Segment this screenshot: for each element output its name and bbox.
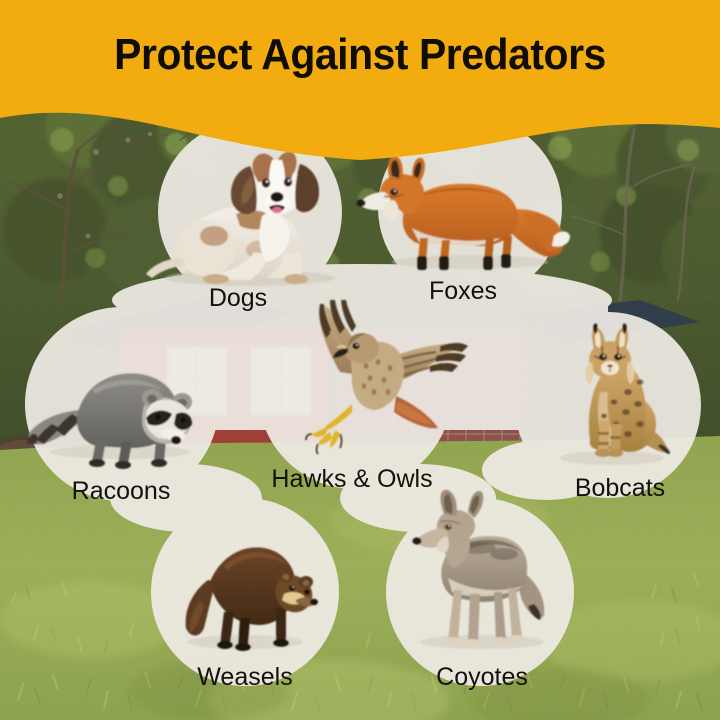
label-hawks-owls: Hawks & Owls [271, 465, 432, 493]
weasel-photo [186, 547, 318, 651]
fox-photo [356, 156, 570, 270]
infographic-poster: Dogs Foxes Racoons Hawks & Owls Bobcats … [0, 0, 720, 720]
label-foxes: Foxes [429, 277, 497, 305]
dog-photo [146, 152, 335, 286]
label-dogs: Dogs [209, 284, 267, 312]
label-racoons: Racoons [72, 477, 171, 505]
label-coyotes: Coyotes [436, 663, 528, 691]
coyote-photo [412, 490, 544, 649]
animal-photos [0, 0, 720, 720]
bobcat-photo [560, 323, 670, 465]
raccoon-photo [27, 373, 192, 469]
hawk-photo [306, 300, 468, 454]
label-weasels: Weasels [197, 663, 292, 691]
page-title: Protect Against Predators [25, 30, 695, 80]
label-bobcats: Bobcats [575, 474, 665, 502]
